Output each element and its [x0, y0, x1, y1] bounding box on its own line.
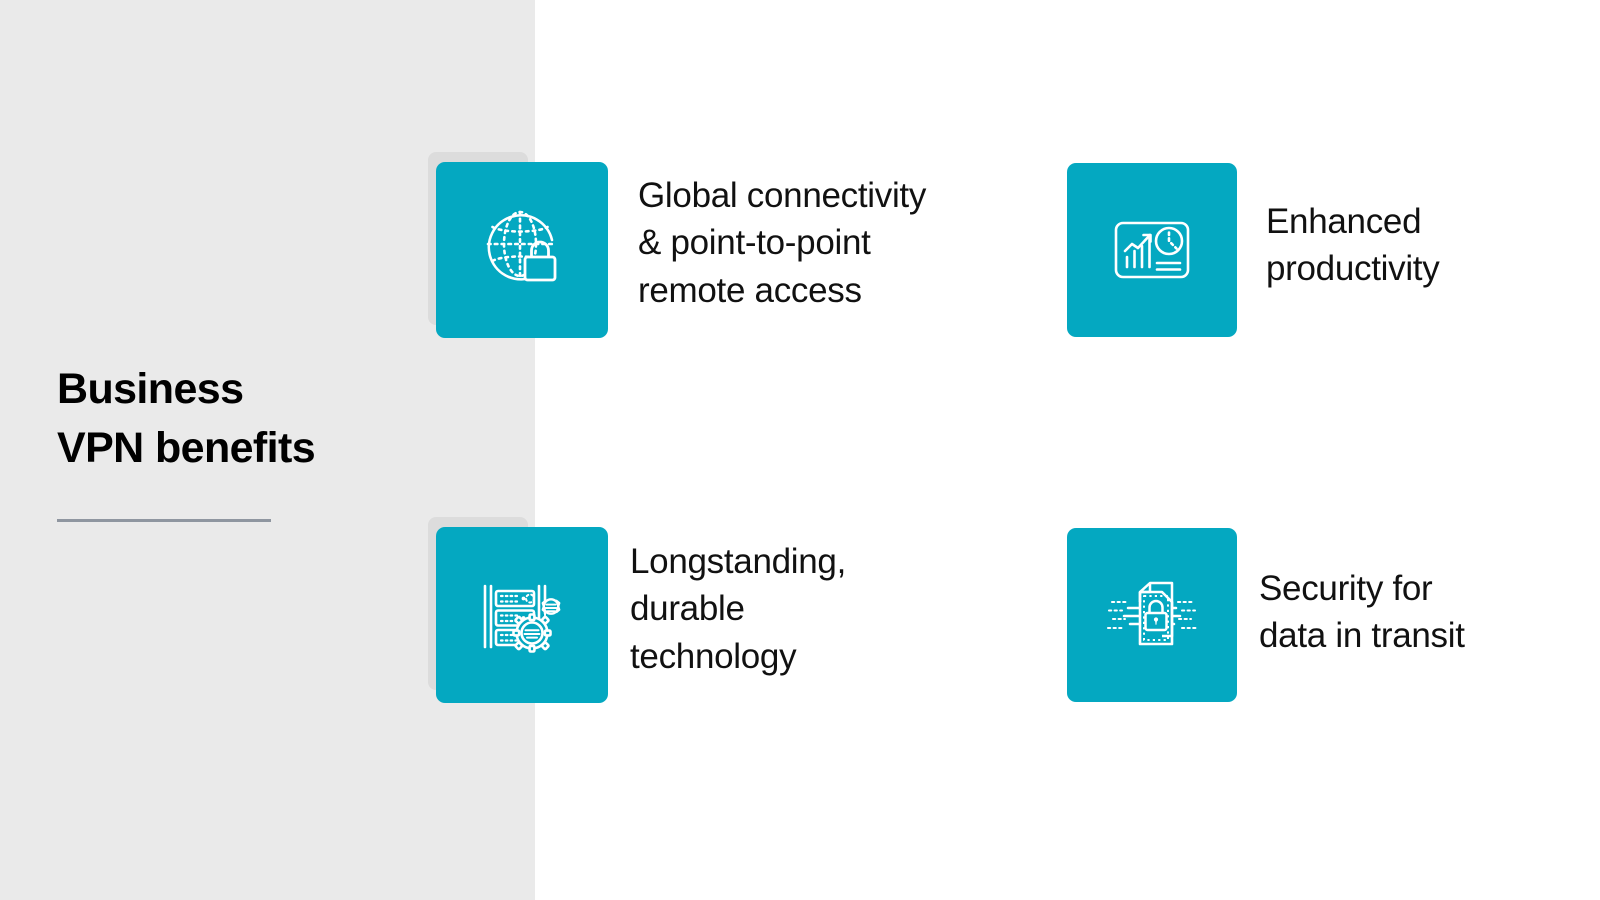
dashboard-chart-clock-icon — [1107, 205, 1197, 295]
benefit-global-connectivity[interactable]: Global connectivity & point-to-point rem… — [428, 152, 1038, 340]
benefit-longstanding-technology[interactable]: Longstanding, durable technology — [428, 517, 950, 705]
benefit-security-data-in-transit[interactable]: Security for data in transit — [1067, 528, 1589, 702]
benefit-label: Global connectivity & point-to-point rem… — [638, 172, 1038, 314]
icon-tile-globe-lock — [428, 152, 610, 340]
benefit-label: Longstanding, durable technology — [630, 538, 950, 680]
benefit-label: Enhanced productivity — [1266, 198, 1586, 293]
icon-tile — [1067, 163, 1237, 337]
globe-lock-icon — [474, 202, 570, 298]
benefits-grid: Global connectivity & point-to-point rem… — [0, 0, 1600, 900]
icon-tile — [436, 527, 608, 703]
document-lock-transit-icon — [1102, 572, 1202, 658]
icon-tile-dashboard — [1067, 163, 1237, 337]
icon-tile-server-gears — [428, 517, 610, 705]
benefit-label: Security for data in transit — [1259, 565, 1589, 660]
icon-tile-document-lock — [1067, 528, 1237, 702]
icon-tile — [1067, 528, 1237, 702]
benefit-enhanced-productivity[interactable]: Enhanced productivity — [1067, 163, 1586, 337]
icon-tile — [436, 162, 608, 338]
server-gears-icon — [474, 567, 570, 663]
